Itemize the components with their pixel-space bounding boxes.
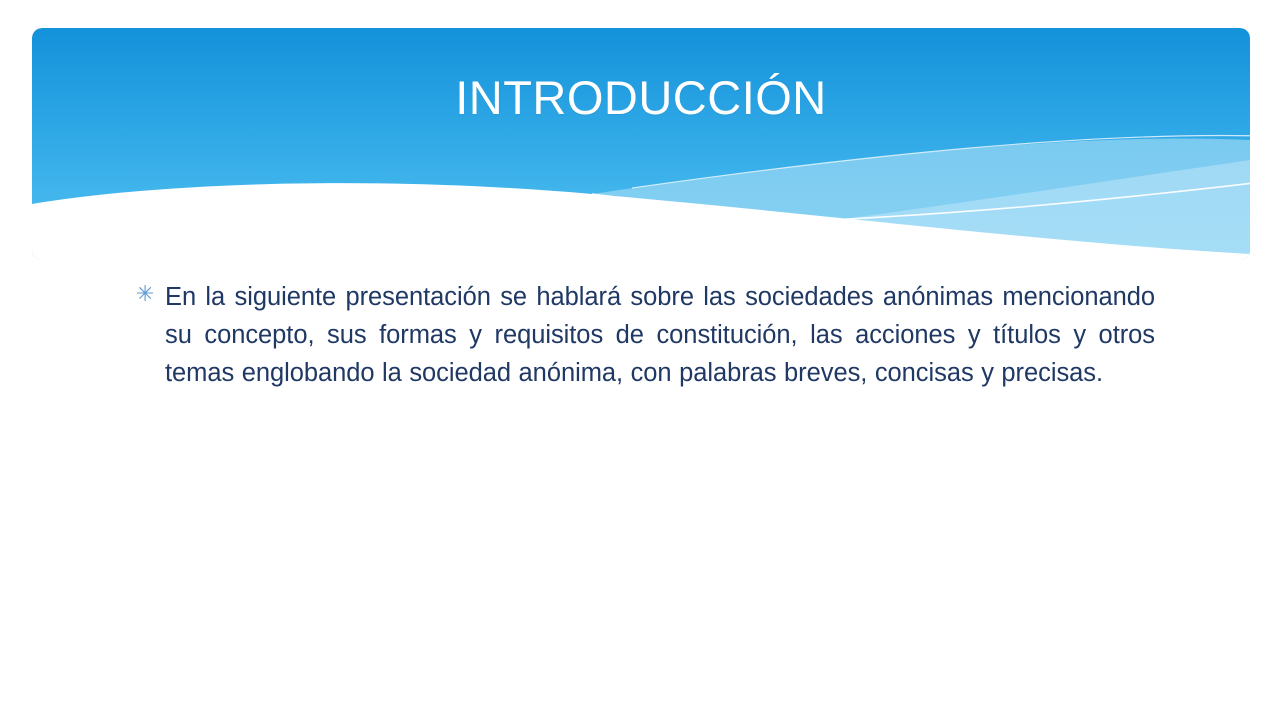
slide-header-banner xyxy=(32,28,1250,260)
bullet-list-item: ✳ En la siguiente presentación se hablar… xyxy=(0,278,1280,392)
asterisk-bullet-icon: ✳ xyxy=(136,284,154,306)
slide-content-body: ✳ En la siguiente presentación se hablar… xyxy=(0,278,1280,698)
bullet-item-text: En la siguiente presentación se hablará … xyxy=(165,278,1155,392)
slide-title: INTRODUCCIÓN xyxy=(32,72,1250,124)
banner-wave-graphic xyxy=(32,28,1250,260)
presentation-slide: INTRODUCCIÓN ✳ En la siguiente presentac… xyxy=(0,0,1280,720)
